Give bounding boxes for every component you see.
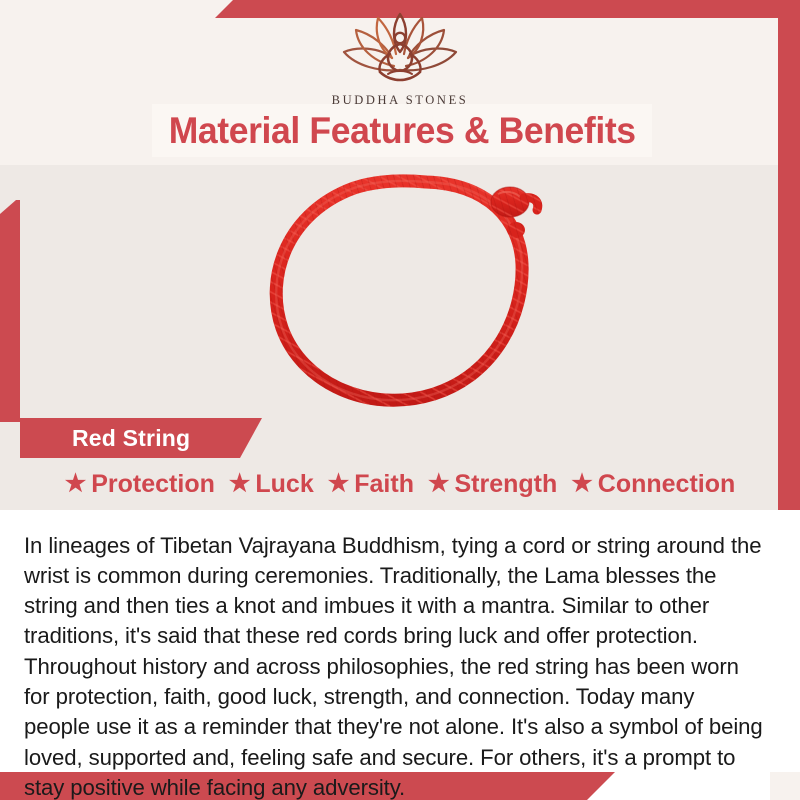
decor-corner-bottom-right xyxy=(770,772,800,800)
benefits-row: ★ Protection ★ Luck ★ Faith ★ Strength ★… xyxy=(20,466,780,502)
benefit-item-luck: ★ Luck xyxy=(222,470,321,499)
benefit-label: Connection xyxy=(598,470,736,499)
infographic-poster: BUDDHA STONES Material Features & Benefi… xyxy=(0,0,800,800)
benefit-item-faith: ★ Faith xyxy=(321,470,421,499)
benefit-item-protection: ★ Protection xyxy=(58,470,222,499)
star-icon: ★ xyxy=(571,472,593,496)
lotus-meditation-icon xyxy=(330,8,470,91)
material-label-banner: Red String xyxy=(20,418,262,458)
benefit-item-strength: ★ Strength xyxy=(421,470,564,499)
benefit-label: Strength xyxy=(454,470,557,499)
description-paragraph: In lineages of Tibetan Vajrayana Buddhis… xyxy=(24,531,765,800)
benefit-label: Faith xyxy=(354,470,414,499)
star-icon: ★ xyxy=(229,472,251,496)
benefit-label: Protection xyxy=(91,470,215,499)
benefit-label: Luck xyxy=(255,470,313,499)
star-icon: ★ xyxy=(428,472,450,496)
material-label: Red String xyxy=(72,425,190,452)
star-icon: ★ xyxy=(65,472,87,496)
title-banner: Material Features & Benefits xyxy=(152,104,652,157)
decor-bar-left xyxy=(0,200,20,422)
red-string-bracelet-image xyxy=(258,168,588,418)
benefit-item-connection: ★ Connection xyxy=(564,470,742,499)
brand-header: BUDDHA STONES xyxy=(0,8,800,108)
page-title: Material Features & Benefits xyxy=(169,110,636,152)
star-icon: ★ xyxy=(328,472,350,496)
